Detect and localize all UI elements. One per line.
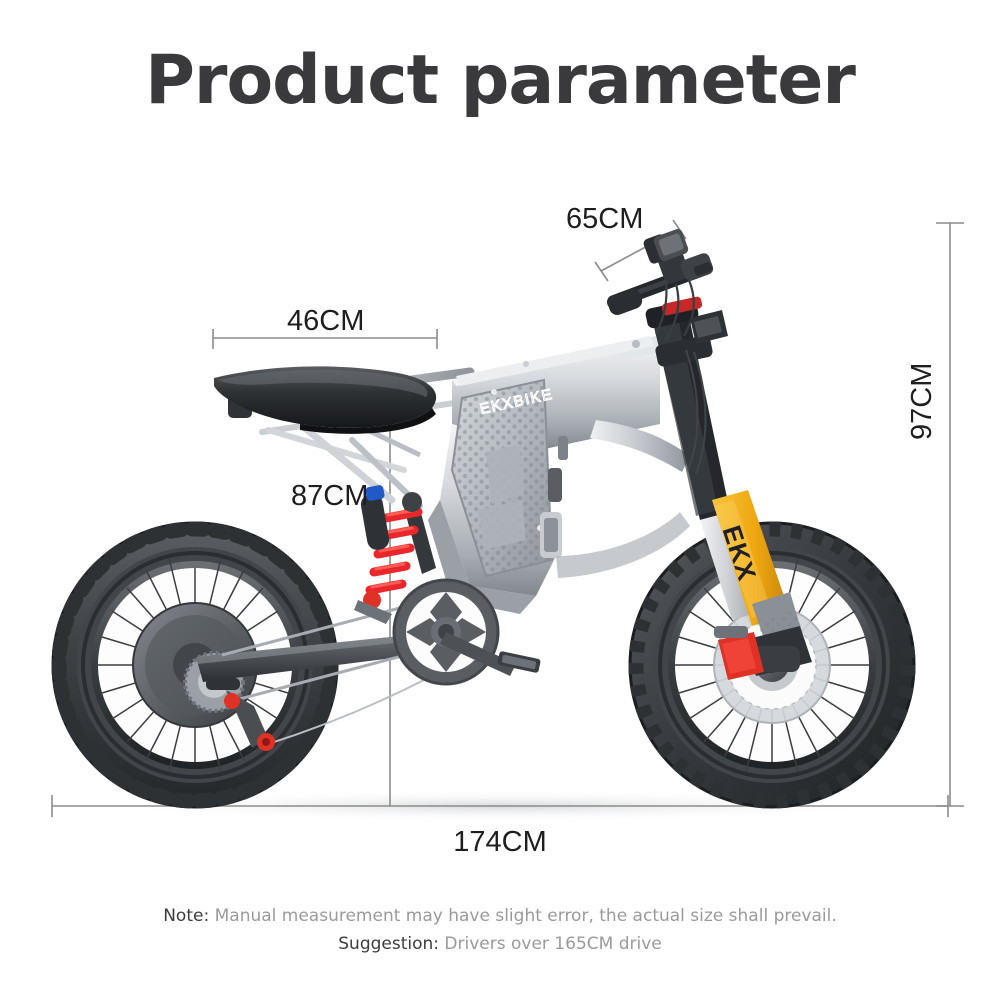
product-parameter-page: Product parameter: [0, 0, 1000, 1000]
dimension-label-87cm: 87CM: [291, 480, 368, 513]
footer-notes: Note: Manual measurement may have slight…: [0, 902, 1000, 958]
dimension-label-65cm: 65CM: [566, 203, 643, 236]
dimension-label-46cm: 46CM: [287, 305, 364, 338]
bike-illustration: EKXBIKE: [53, 228, 914, 807]
handlebar-controls: [642, 228, 715, 286]
seat: [214, 366, 436, 434]
down-tube: [556, 420, 690, 578]
dimension-label-174cm: 174CM: [0, 826, 1000, 859]
note-lead: Note:: [163, 906, 209, 926]
dimension-line-87cm: [381, 400, 399, 806]
suggestion-line: Suggestion: Drivers over 165CM drive: [0, 930, 1000, 958]
dimension-label-97cm: 97CM: [906, 363, 939, 440]
note-text: Manual measurement may have slight error…: [215, 906, 837, 926]
dimension-line-97cm: [936, 223, 964, 806]
note-line: Note: Manual measurement may have slight…: [0, 902, 1000, 930]
suggestion-text: Drivers over 165CM drive: [444, 934, 661, 954]
suggestion-lead: Suggestion:: [338, 934, 439, 954]
